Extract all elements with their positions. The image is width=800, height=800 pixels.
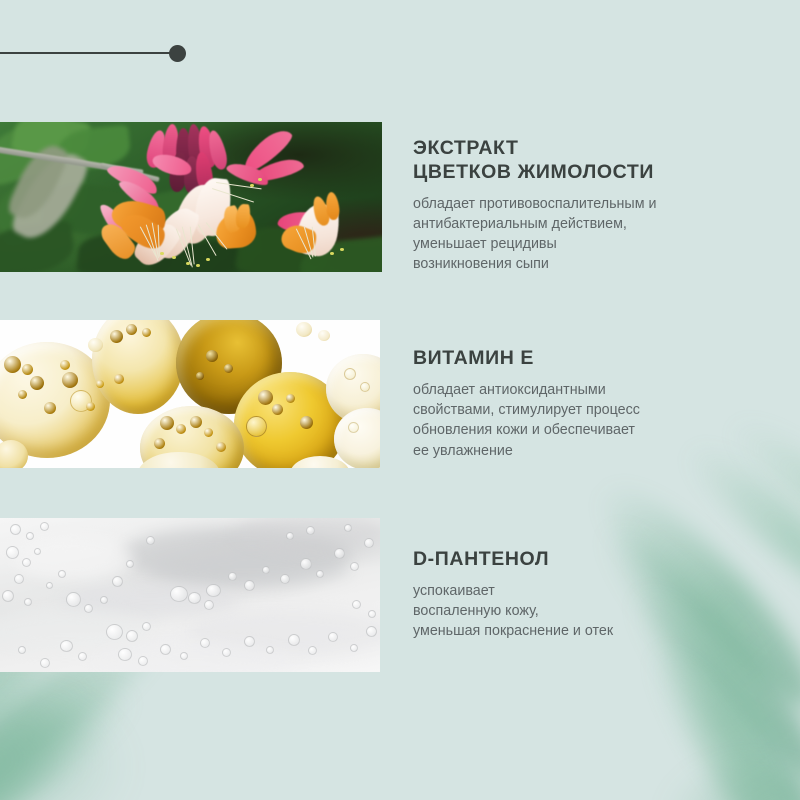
ingredient-copy-honeysuckle: ЭКСТРАКТ ЦВЕТКОВ ЖИМОЛОСТИ обладает прот… [413, 137, 743, 275]
ingredient-title: ВИТАМИН Е [413, 347, 743, 371]
ingredient-copy-vitamin-e: ВИТАМИН Е обладает антиоксидантными свой… [413, 347, 743, 461]
ingredient-description: обладает противовоспалительным и антибак… [413, 194, 743, 275]
ingredient-copy-d-panthenol: D-ПАНТЕНОЛ успокаивает воспаленную кожу,… [413, 548, 743, 642]
palm-frond-blade [638, 631, 800, 800]
ingredient-photo-honeysuckle [0, 122, 382, 272]
horizontal-rule [0, 52, 177, 54]
ingredient-description: обладает антиоксидантными свойствами, ст… [413, 380, 743, 461]
ingredient-title: D-ПАНТЕНОЛ [413, 548, 743, 572]
ingredient-photo-vitamin-e [0, 320, 380, 468]
palm-frond-blade [660, 770, 800, 800]
end-dot [169, 45, 186, 62]
ingredient-description: успокаивает воспаленную кожу, уменьшая п… [413, 581, 743, 642]
ingredients-infographic-poster: ЭКСТРАКТ ЦВЕТКОВ ЖИМОЛОСТИ обладает прот… [0, 0, 800, 800]
palm-frond-blade [0, 700, 130, 800]
ingredient-photo-d-panthenol [0, 518, 380, 672]
palm-frond-blade [0, 665, 148, 800]
ingredient-title: ЭКСТРАКТ ЦВЕТКОВ ЖИМОЛОСТИ [413, 137, 743, 185]
